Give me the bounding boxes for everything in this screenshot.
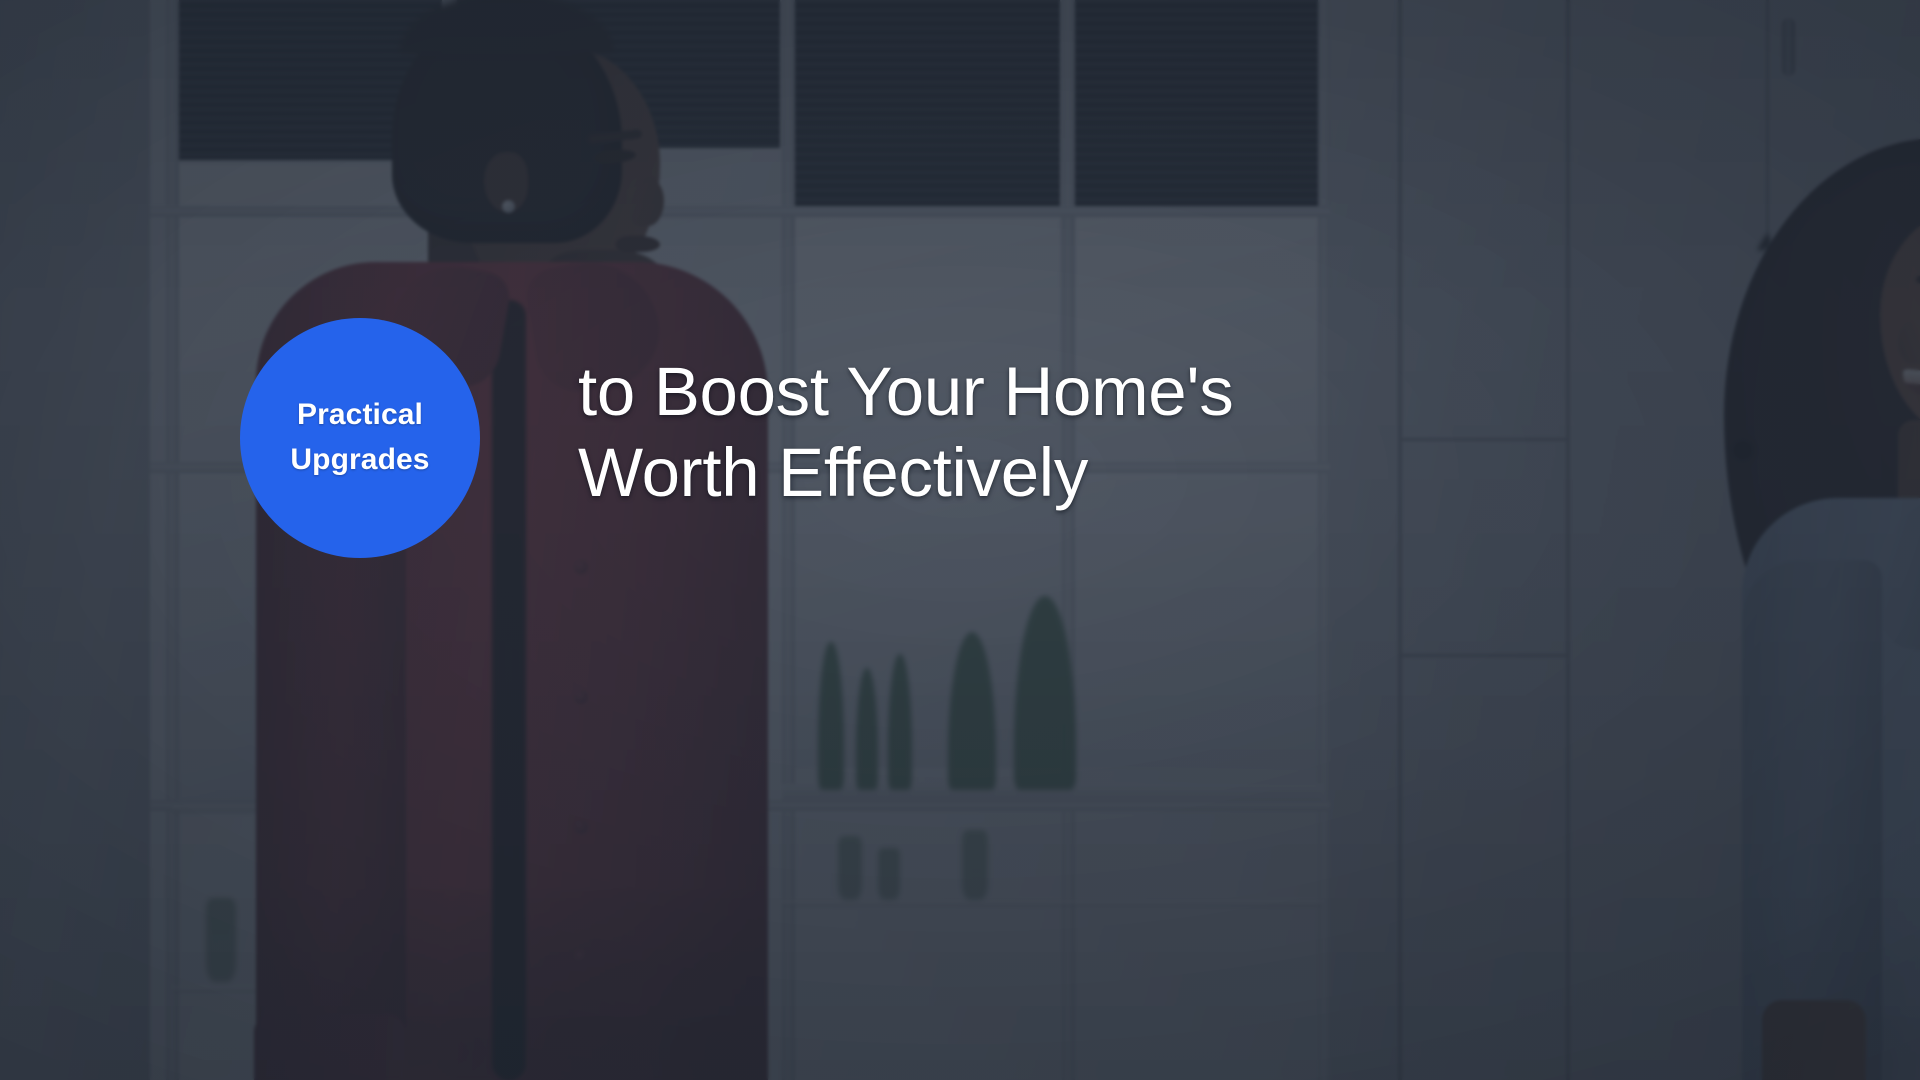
badge-label: Practical Upgrades: [275, 393, 445, 482]
headline-line-1: to Boost Your Home's: [578, 352, 1698, 433]
title-card-content: Practical Upgrades to Boost Your Home's …: [0, 0, 1920, 1080]
practical-upgrades-badge: Practical Upgrades: [240, 318, 480, 558]
headline-line-2: Worth Effectively: [578, 433, 1698, 514]
headline: to Boost Your Home's Worth Effectively: [578, 352, 1698, 513]
video-title-card: Practical Upgrades to Boost Your Home's …: [0, 0, 1920, 1080]
